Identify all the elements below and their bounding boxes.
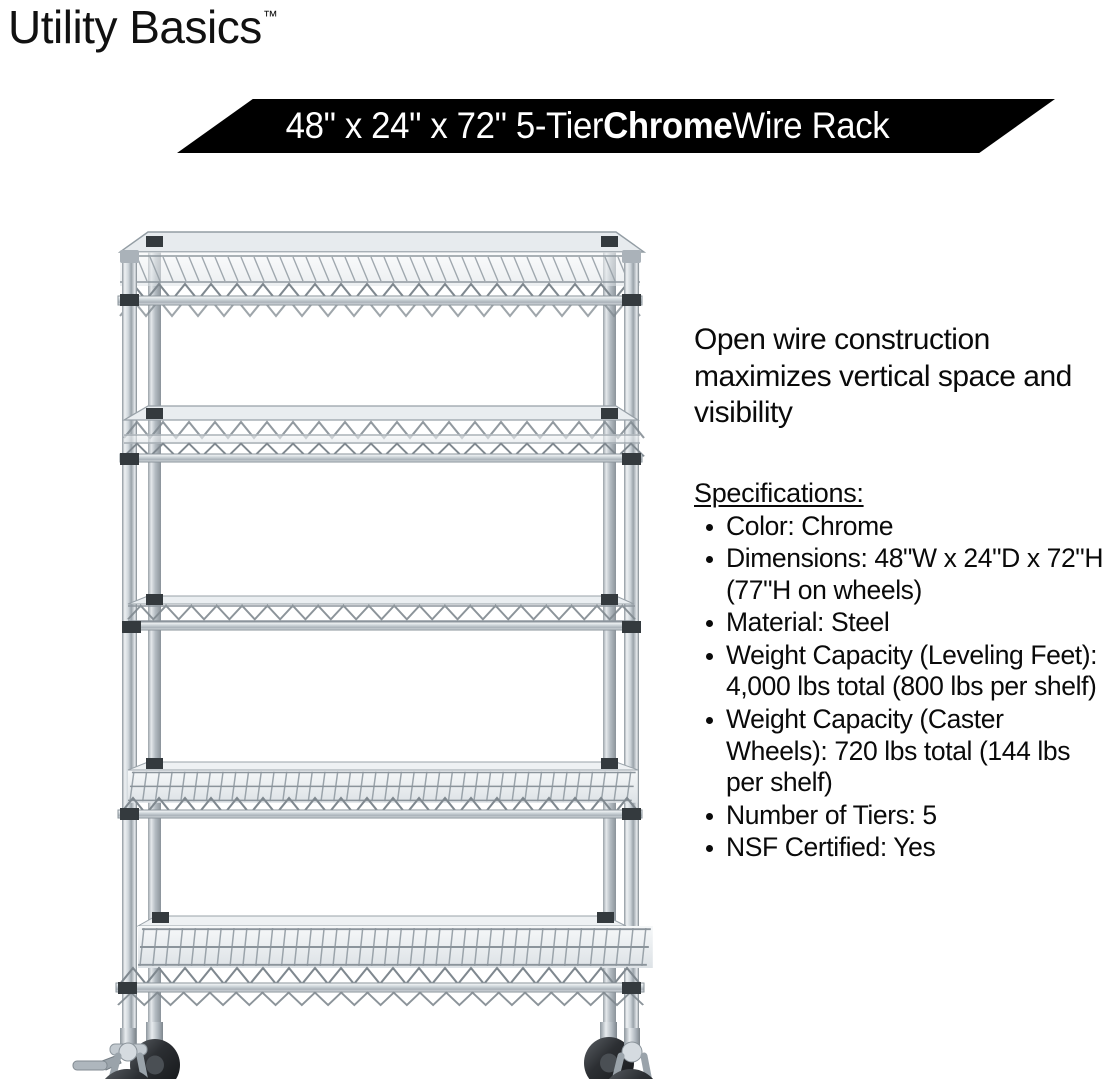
post-collar [120,294,139,306]
post-collar [597,912,614,923]
product-infographic: Utility Basics™ 48" x 24" x 72" 5-Tier C… [0,0,1108,1079]
post-collar [622,808,641,820]
post-collar [118,982,137,994]
banner-title-prefix: 48" x 24" x 72" 5-Tier [286,105,603,147]
post-collar [146,594,163,605]
product-illustration [60,210,700,1079]
post-collar [622,294,641,306]
post-collar [622,453,641,465]
post-collar [622,621,641,633]
post-collar [622,982,641,994]
shelf-tier-1 [118,232,644,316]
spec-item-material: Material: Steel [694,607,1108,639]
post-collar [120,453,139,465]
shelf-tier-5 [116,916,653,1005]
post-collar [601,408,618,419]
copy-column: Open wire construction maximizes vertica… [694,322,1108,865]
brand-name: Utility Basics [8,1,262,53]
spec-item-dimensions: Dimensions: 48"W x 24"D x 72"H (77"H on … [694,543,1108,606]
brand-logo: Utility Basics™ [8,4,278,50]
post-collar [152,912,169,923]
post-collar [601,236,618,247]
specifications-block: Specifications: Color: Chrome Dimensions… [694,478,1108,864]
specifications-list: Color: Chrome Dimensions: 48"W x 24"D x … [694,511,1108,864]
headline-text: Open wire construction maximizes vertica… [694,322,1108,432]
post-collar [146,408,163,419]
spec-item-capacity-casters: Weight Capacity (Caster Wheels): 720 lbs… [694,704,1108,799]
spec-item-nsf-certified: NSF Certified: Yes [694,832,1108,864]
post-collar [601,758,618,769]
shelf-tier-3 [124,596,638,630]
post-collar [120,808,139,820]
trademark-symbol: ™ [263,8,278,25]
banner-title: 48" x 24" x 72" 5-Tier Chrome Wire Rack [148,99,1027,153]
title-banner: 48" x 24" x 72" 5-Tier Chrome Wire Rack [120,99,1055,153]
spec-item-capacity-leveling-feet: Weight Capacity (Leveling Feet): 4,000 l… [694,640,1108,703]
shelf-tier-2 [120,406,644,462]
spec-item-color: Color: Chrome [694,511,1108,543]
post-collar [122,621,141,633]
caster-brake-pedal [73,1061,107,1070]
banner-title-suffix: Wire Rack [732,105,889,147]
spec-item-tier-count: Number of Tiers: 5 [694,800,1108,832]
post-collar [146,758,163,769]
specifications-heading: Specifications: [694,478,1108,509]
post-collar [146,236,163,247]
caster-wheel-front-left [73,1028,157,1079]
post-collar [601,594,618,605]
front-left-post [120,250,139,1050]
banner-title-emphasis: Chrome [603,105,732,147]
shelf-tier-4 [118,762,642,818]
